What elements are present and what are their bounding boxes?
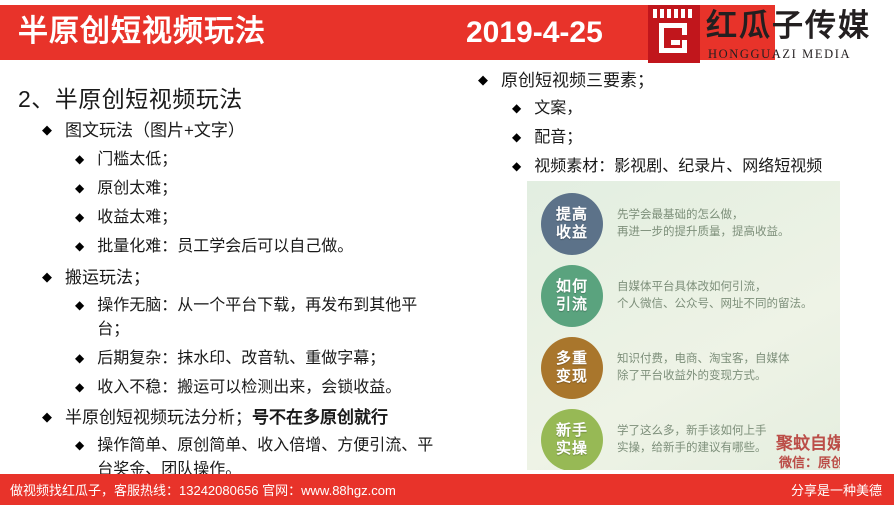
brand-logo: 红瓜子传媒 HONGGUAZI MEDIA: [648, 5, 894, 65]
photo-desc-line2: 实操，给新手的建议有哪些。: [617, 440, 767, 457]
bullet-diamond-icon: ◆: [75, 439, 84, 451]
bullet-item: ◆ 半原创短视频玩法分析；号不在多原创就行: [42, 405, 452, 430]
bullet-diamond-icon: ◆: [42, 410, 52, 423]
bullet-item: ◆ 搬运玩法；: [42, 265, 442, 290]
slide-footer: 做视频找红瓜子，客服热线：13242080656 官网：www.88hgz.co…: [0, 474, 894, 505]
bullet-item: ◆ 视频素材：影视剧、纪录片、网络短视频: [512, 155, 894, 179]
bullet-diamond-icon: ◆: [75, 352, 84, 364]
bullet-diamond-icon: ◆: [75, 182, 84, 194]
bullet-item: ◆ 图文玩法（图片+文字）: [42, 118, 442, 143]
bullet-diamond-icon: ◆: [75, 153, 84, 165]
photo-desc-line2: 个人微信、公众号、网址不同的留法。: [617, 296, 813, 313]
bullet-text: 批量化难：员工学会后可以自己做。: [97, 235, 455, 259]
bullet-item: ◆ 收益太难；: [75, 206, 445, 230]
right-column: ◆ 原创短视频三要素； ◆ 文案， ◆ 配音； ◆ 视频素材：影视剧、纪录片、网…: [460, 62, 894, 470]
photo-badge-line1: 新手: [556, 422, 588, 440]
bullet-diamond-icon: ◆: [512, 102, 521, 114]
brand-name-en: HONGGUAZI MEDIA: [708, 47, 851, 62]
bullet-text: 半原创短视频玩法分析；号不在多原创就行: [65, 405, 452, 430]
photo-badge: 提高 收益: [541, 193, 603, 255]
bullet-item: ◆ 文案，: [512, 97, 882, 121]
left-column: 2、半原创短视频玩法 ◆ 图文玩法（图片+文字） ◆ 门槛太低； ◆ 原创太难；…: [0, 62, 460, 470]
slide-root: 半原创短视频玩法 2019-4-25 红瓜子传媒 HONGGUAZI MEDIA…: [0, 0, 894, 505]
bullet-text: 文案，: [534, 97, 882, 121]
bullet-item: ◆ 后期复杂：抹水印、改音轨、重做字幕；: [75, 347, 450, 371]
photo-desc-line2: 再进一步的提升质量，提高收益。: [617, 224, 790, 241]
bullet-text: 收入不稳：搬运可以检测出来，会锁收益。: [97, 376, 455, 400]
photo-desc: 学了这么多，新手该如何上手 实操，给新手的建议有哪些。: [617, 423, 767, 457]
photo-row: 如何 引流 自媒体平台具体改如何引流， 个人微信、公众号、网址不同的留法。: [541, 265, 813, 327]
section-heading: 2、半原创短视频玩法: [18, 80, 243, 114]
photo-badge-line2: 实操: [556, 440, 588, 458]
photo-badge-line2: 收益: [556, 224, 588, 242]
footer-slogan-text: 分享是一种美德: [791, 480, 882, 499]
photo-badge-line1: 提高: [556, 206, 588, 224]
bullet-text: 后期复杂：抹水印、改音轨、重做字幕；: [97, 347, 450, 371]
photo-desc: 自媒体平台具体改如何引流， 个人微信、公众号、网址不同的留法。: [617, 279, 813, 313]
photo-desc: 知识付费，电商、淘宝客，自媒体 除了平台收益外的变现方式。: [617, 351, 790, 385]
brand-name-cn: 红瓜子传媒: [706, 7, 871, 45]
photo-watermark: 聚蚊自媒 微信：原创: [776, 434, 840, 470]
bullet-diamond-icon: ◆: [75, 211, 84, 223]
bullet-item: ◆ 操作无脑：从一个平台下载，再发布到其他平台；: [75, 294, 443, 342]
bullet-text-emphasis: 号不在多原创就行: [252, 408, 388, 427]
photo-desc-line1: 先学会最基础的怎么做，: [617, 207, 790, 224]
bullet-diamond-icon: ◆: [75, 240, 84, 252]
bullet-item: ◆ 门槛太低；: [75, 148, 445, 172]
bullet-item: ◆ 收入不稳：搬运可以检测出来，会锁收益。: [75, 376, 455, 400]
bullet-text: 操作无脑：从一个平台下载，再发布到其他平台；: [97, 294, 443, 342]
page-title: 半原创短视频玩法: [18, 11, 266, 53]
slide-header: 半原创短视频玩法 2019-4-25 红瓜子传媒 HONGGUAZI MEDIA: [0, 5, 894, 60]
bullet-text: 原创太难；: [97, 177, 445, 201]
bullet-text: 搬运玩法；: [65, 265, 442, 290]
bullet-item: ◆ 原创短视频三要素；: [478, 68, 878, 93]
bullet-diamond-icon: ◆: [512, 160, 521, 172]
photo-badge: 如何 引流: [541, 265, 603, 327]
bullet-diamond-icon: ◆: [75, 299, 84, 311]
bullet-text: 门槛太低；: [97, 148, 445, 172]
photo-desc-line1: 知识付费，电商、淘宝客，自媒体: [617, 351, 790, 368]
photo-badge-line2: 变现: [556, 368, 588, 386]
bullet-text: 视频素材：影视剧、纪录片、网络短视频: [534, 155, 894, 179]
course-outline-photo: 提高 收益 先学会最基础的怎么做， 再进一步的提升质量，提高收益。 如何 引流 …: [527, 181, 840, 470]
bullet-diamond-icon: ◆: [478, 73, 488, 86]
letter-g-icon: [659, 23, 687, 53]
photo-desc-line2: 除了平台收益外的变现方式。: [617, 368, 790, 385]
photo-row: 新手 实操 学了这么多，新手该如何上手 实操，给新手的建议有哪些。: [541, 409, 767, 470]
bullet-diamond-icon: ◆: [512, 131, 521, 143]
slide-body: 2、半原创短视频玩法 ◆ 图文玩法（图片+文字） ◆ 门槛太低； ◆ 原创太难；…: [0, 62, 894, 470]
bullet-text: 配音；: [534, 126, 882, 150]
photo-badge-line1: 多重: [556, 350, 588, 368]
photo-watermark-line2: 微信：原创: [776, 453, 840, 470]
bullet-text: 图文玩法（图片+文字）: [65, 118, 442, 143]
bullet-text: 原创短视频三要素；: [501, 68, 878, 93]
bullet-item: ◆ 原创太难；: [75, 177, 445, 201]
header-date: 2019-4-25: [466, 13, 603, 53]
photo-row: 提高 收益 先学会最基础的怎么做， 再进一步的提升质量，提高收益。: [541, 193, 790, 255]
bullet-item: ◆ 批量化难：员工学会后可以自己做。: [75, 235, 455, 259]
bullet-item: ◆ 配音；: [512, 126, 882, 150]
bullet-diamond-icon: ◆: [75, 381, 84, 393]
bullet-text: 收益太难；: [97, 206, 445, 230]
film-perforation-icon: [653, 9, 695, 18]
photo-desc-line1: 学了这么多，新手该如何上手: [617, 423, 767, 440]
photo-watermark-line1: 聚蚊自媒: [776, 434, 840, 453]
photo-badge: 新手 实操: [541, 409, 603, 470]
bullet-diamond-icon: ◆: [42, 270, 52, 283]
bullet-diamond-icon: ◆: [42, 123, 52, 136]
photo-desc: 先学会最基础的怎么做， 再进一步的提升质量，提高收益。: [617, 207, 790, 241]
footer-contact-text: 做视频找红瓜子，客服热线：13242080656 官网：www.88hgz.co…: [10, 480, 396, 499]
photo-badge: 多重 变现: [541, 337, 603, 399]
photo-desc-line1: 自媒体平台具体改如何引流，: [617, 279, 813, 296]
film-slate-g-logo-icon: [648, 5, 700, 63]
photo-row: 多重 变现 知识付费，电商、淘宝客，自媒体 除了平台收益外的变现方式。: [541, 337, 790, 399]
bullet-text-normal: 半原创短视频玩法分析；: [65, 408, 252, 427]
photo-badge-line2: 引流: [556, 296, 588, 314]
photo-badge-line1: 如何: [556, 278, 588, 296]
